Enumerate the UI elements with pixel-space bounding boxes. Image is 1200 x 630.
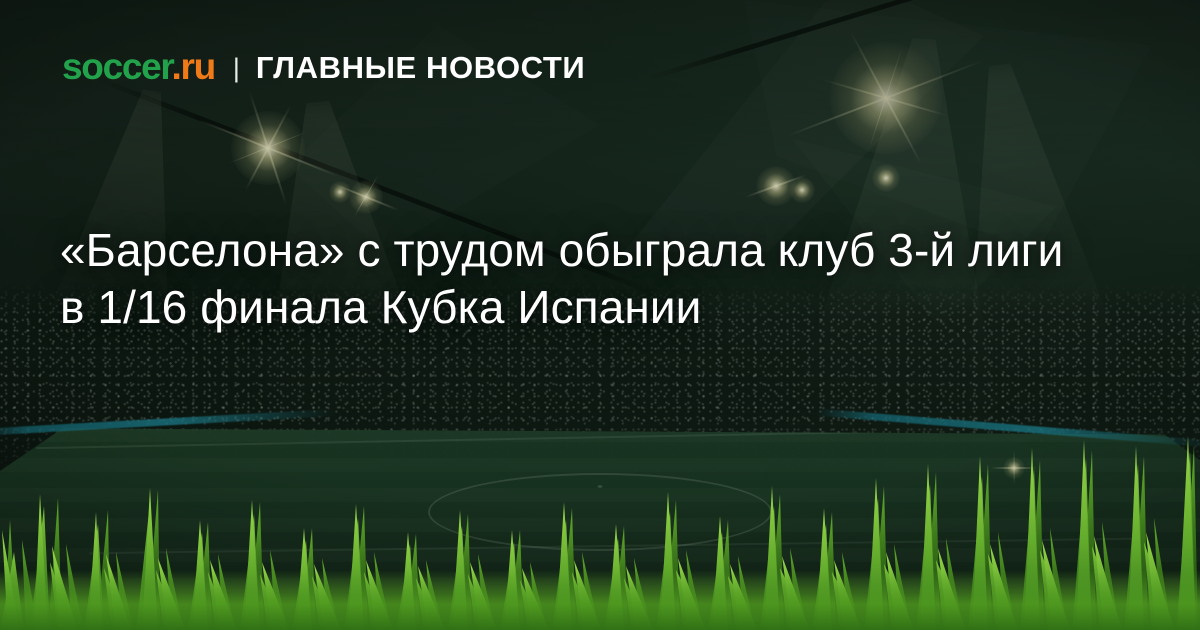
- site-logo-name: soccer: [62, 46, 171, 87]
- site-logo[interactable]: soccer.ru: [62, 48, 215, 85]
- brand-header: soccer.ru | ГЛАВНЫЕ НОВОСТИ: [62, 48, 585, 87]
- site-logo-tld: .ru: [171, 46, 214, 87]
- page-title: «Барселона» с трудом обыграла клуб 3-й л…: [60, 222, 1070, 336]
- brand-separator: |: [233, 53, 240, 84]
- section-label: ГЛАВНЫЕ НОВОСТИ: [256, 50, 585, 86]
- news-share-card: soccer.ru | ГЛАВНЫЕ НОВОСТИ «Барселона» …: [0, 0, 1200, 630]
- card-content: soccer.ru | ГЛАВНЫЕ НОВОСТИ «Барселона» …: [0, 0, 1200, 630]
